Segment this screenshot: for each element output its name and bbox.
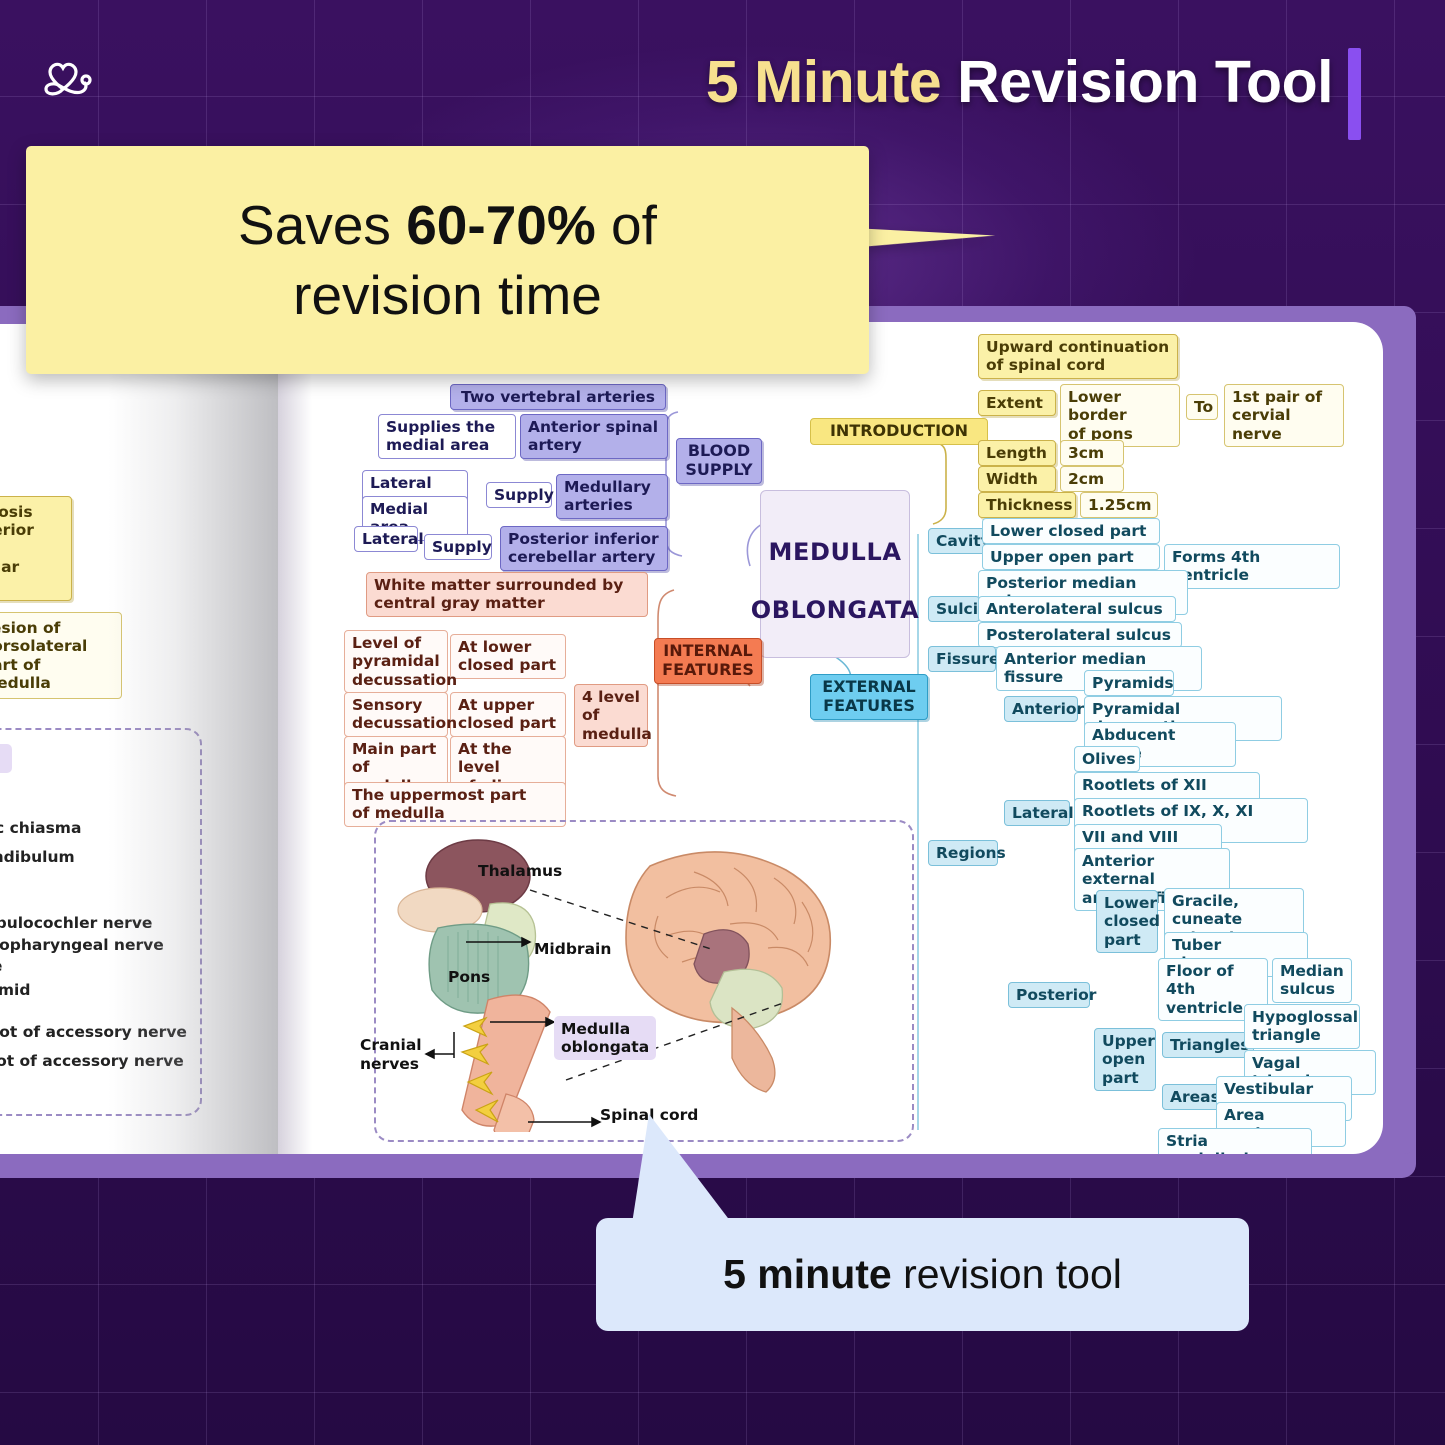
page-spine-shadow (278, 322, 312, 1154)
ext-upper-open-floor-child[interactable]: Median sulcus (1272, 958, 1352, 1003)
intro-item-2-label[interactable]: Length (978, 440, 1056, 466)
yellow-callout-line2: revision time (293, 260, 602, 330)
ext-areas-label[interactable]: Areas (1162, 1084, 1222, 1110)
diagram-label-medulla: Medulla oblongata (554, 1016, 656, 1060)
diagram-label-midbrain: Midbrain (534, 940, 611, 958)
blood-item-0[interactable]: Two vertebral arteries (450, 384, 666, 410)
internal-levels-label[interactable]: 4 level of medulla (574, 684, 648, 747)
intro-item-1-connector: To (1186, 394, 1218, 420)
page-number: 16 (1353, 1118, 1374, 1140)
mindmap-center-node: MEDULLA OBLONGATA (760, 490, 910, 658)
left-section-title: BRAINSTEM (0, 744, 12, 773)
branch-internal-features-label[interactable]: INTERNAL FEATURES (654, 638, 762, 684)
left-list-item-6: Cranial root of accessory nerve (0, 1023, 187, 1041)
brand-logo-icon (38, 52, 110, 114)
left-note-white: Lesion of dorsolateral part of medulla (0, 612, 122, 699)
yellow-callout-line1: Saves 60-70% of (238, 190, 657, 260)
ext-regions-anterior-label[interactable]: Anterior (1004, 696, 1078, 722)
ext-sulci-item-2[interactable]: Posterolateral sulcus (978, 622, 1182, 648)
yellow-callout-line1-bold: 60-70% (406, 194, 596, 256)
intro-item-3-label[interactable]: Width (978, 466, 1056, 492)
blue-callout-tail (631, 1114, 737, 1230)
internal-level-1-detail[interactable]: Sensory decussation (344, 692, 448, 737)
intro-item-1-label[interactable]: Extent (978, 390, 1056, 416)
blue-callout: 5 minute revision tool (596, 1218, 1249, 1331)
blue-callout-bold: 5 minute (723, 1251, 892, 1297)
left-list-item-1: Infundibulum (0, 848, 75, 866)
page-title-highlight: 5 Minute (706, 49, 941, 115)
intro-item-4-value[interactable]: 1.25cm (1080, 492, 1158, 518)
ext-anterior-item-0[interactable]: Pyramids (1084, 670, 1174, 696)
blood-item-3-connector: Supply (424, 534, 492, 560)
ext-stria-medullaris[interactable]: Stria medullaris (1158, 1128, 1312, 1154)
ext-cavity-item-1-child[interactable]: Forms 4th ventricle (1164, 544, 1340, 589)
internal-level-1[interactable]: At upper closed part (450, 692, 566, 737)
ext-triangles-label[interactable]: Triangles (1162, 1032, 1254, 1058)
intro-item-2-value[interactable]: 3cm (1060, 440, 1124, 466)
yellow-callout-line1-post: of (596, 194, 657, 256)
center-title-line1: MEDULLA (751, 538, 920, 567)
diagram-label-pons: Pons (448, 968, 490, 986)
left-list-item-3: Glossopharyngeal nerve (0, 936, 164, 954)
blue-callout-rest: revision tool (892, 1251, 1122, 1297)
title-accent-bar (1348, 48, 1361, 140)
yellow-callout-line1-pre: Saves (238, 194, 406, 256)
blood-item-1[interactable]: Anterior spinal artery (520, 414, 668, 459)
center-title-line2: OBLONGATA (751, 596, 920, 625)
page-logo-icon (1311, 346, 1359, 386)
ext-group-fissure-label[interactable]: Fissure (928, 646, 996, 672)
blue-callout-text: 5 minute revision tool (723, 1251, 1122, 1298)
ext-regions-lateral-label[interactable]: Lateral (1004, 800, 1070, 826)
internal-level-0-detail[interactable]: Level of pyramidal decussation (344, 630, 448, 693)
branch-introduction-label[interactable]: INTRODUCTION (810, 418, 988, 445)
ext-regions-posterior-label[interactable]: Posterior (1008, 982, 1090, 1008)
intro-item-0[interactable]: Upward continuation of spinal cord (978, 334, 1178, 379)
yellow-callout-tail (859, 229, 996, 364)
left-list-item-5: Pyramid (0, 981, 30, 999)
page-title-rest: Revision Tool (941, 49, 1333, 115)
ext-group-regions-label[interactable]: Regions (928, 840, 998, 866)
left-list-item-2: Vestibulocochler nerve (0, 914, 152, 932)
intro-item-1-value[interactable]: Lower border of pons (1060, 384, 1180, 447)
ext-group-cavity-label[interactable]: Cavity (928, 528, 990, 554)
left-list-item-7: Spinal root of accessory nerve (0, 1052, 184, 1070)
left-list-item-0: Optic chiasma (0, 819, 81, 837)
right-page: © 2025 by Teachspoon EdTech Private Limi… (278, 322, 1383, 1154)
ext-posterior-lower-closed-label[interactable]: Lower closed part (1096, 890, 1158, 953)
internal-level-0[interactable]: At lower closed part (450, 634, 566, 679)
blood-item-3[interactable]: Posterior inferior cerebellar artery (500, 526, 668, 571)
intro-item-3-value[interactable]: 2cm (1060, 466, 1124, 492)
branch-external-features-label[interactable]: EXTERNAL FEATURES (810, 674, 928, 720)
ext-posterior-upper-open-label[interactable]: Upper open part (1094, 1028, 1156, 1091)
blood-item-3-target-0[interactable]: Lateral (354, 526, 418, 552)
ext-lateral-item-0[interactable]: Olives (1074, 746, 1140, 772)
blood-item-2-connector: Supply (486, 482, 552, 508)
blood-item-1-note[interactable]: Supplies the medial area (378, 414, 516, 459)
branch-blood-supply-label[interactable]: BLOOD SUPPLY (676, 438, 762, 484)
yellow-callout: Saves 60-70% of revision time (26, 146, 869, 374)
diagram-label-cranial-nerves: Cranial nerves (360, 1036, 422, 1073)
left-note-yellow: Thrombosis of posterior inferior cerebel… (0, 496, 72, 601)
page-title: 5 Minute Revision Tool (706, 48, 1333, 116)
ext-group-sulci-label[interactable]: Sulci (928, 596, 980, 622)
internal-item-0[interactable]: White matter surrounded by central gray … (366, 572, 648, 617)
intro-item-1-target[interactable]: 1st pair of cervial nerve (1224, 384, 1344, 447)
ext-sulci-item-1[interactable]: Anterolateral sulcus (978, 596, 1176, 622)
ext-triangles-item-0[interactable]: Hypoglossal triangle (1244, 1004, 1360, 1049)
ext-cavity-item-0[interactable]: Lower closed part (982, 518, 1160, 544)
left-list-item-4: Olive (0, 957, 2, 975)
diagram-label-thalamus: Thalamus (478, 862, 562, 880)
intro-item-4-label[interactable]: Thickness (978, 492, 1076, 518)
left-page: Thrombosis of posterior inferior cerebel… (0, 324, 278, 1154)
copyright-text: © 2025 by Teachspoon EdTech Private Limi… (1357, 716, 1375, 1056)
blood-item-2[interactable]: Medullary arteries (556, 474, 668, 519)
ext-cavity-item-1[interactable]: Upper open part (982, 544, 1160, 570)
